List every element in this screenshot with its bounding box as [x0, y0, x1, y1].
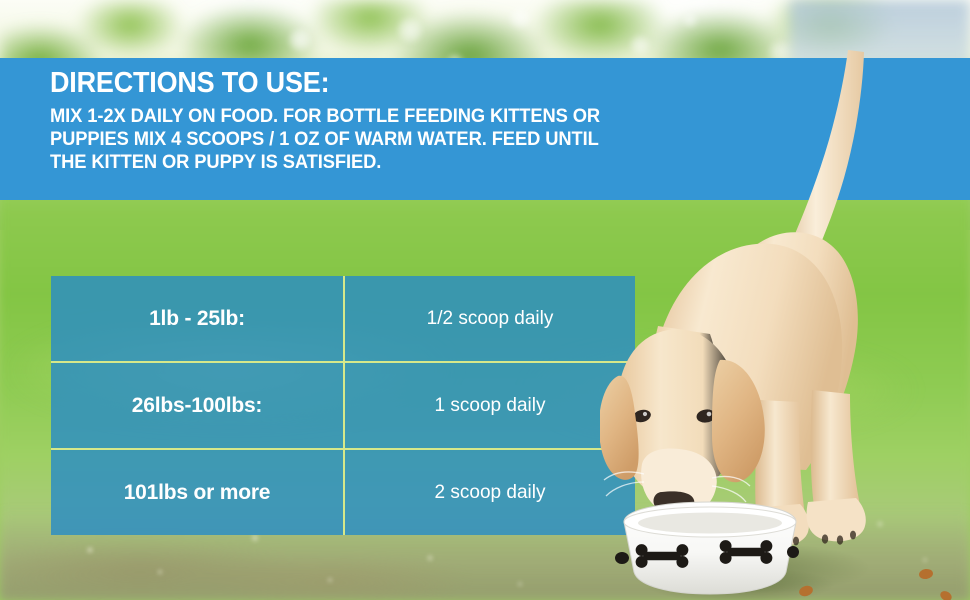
- weight-range-cell: 101lbs or more: [51, 450, 345, 535]
- weight-range-cell: 1lb - 25lb:: [51, 276, 345, 361]
- directions-header-band: DIRECTIONS TO USE: MIX 1-2X DAILY ON FOO…: [0, 58, 970, 200]
- table-row: 1lb - 25lb: 1/2 scoop daily: [51, 276, 635, 361]
- directions-line-3: THE KITTEN OR PUPPY IS SATISFIED.: [50, 151, 727, 174]
- header-text-block: DIRECTIONS TO USE: MIX 1-2X DAILY ON FOO…: [0, 58, 970, 174]
- table-row: 101lbs or more 2 scoop daily: [51, 448, 635, 535]
- table-row: 26lbs-100lbs: 1 scoop daily: [51, 361, 635, 448]
- page-title: DIRECTIONS TO USE:: [50, 66, 906, 100]
- directions-line-2: PUPPIES MIX 4 SCOOPS / 1 OZ OF WARM WATE…: [50, 128, 727, 151]
- feeding-dosage-table: 1lb - 25lb: 1/2 scoop daily 26lbs-100lbs…: [51, 276, 635, 535]
- dose-amount-cell: 1/2 scoop daily: [345, 276, 635, 361]
- weight-range-cell: 26lbs-100lbs:: [51, 363, 345, 448]
- product-directions-banner: DIRECTIONS TO USE: MIX 1-2X DAILY ON FOO…: [0, 0, 970, 600]
- dose-amount-cell: 2 scoop daily: [345, 450, 635, 535]
- dose-amount-cell: 1 scoop daily: [345, 363, 635, 448]
- directions-body-text: MIX 1-2X DAILY ON FOOD. FOR BOTTLE FEEDI…: [50, 105, 727, 174]
- directions-line-1: MIX 1-2X DAILY ON FOOD. FOR BOTTLE FEEDI…: [50, 105, 727, 128]
